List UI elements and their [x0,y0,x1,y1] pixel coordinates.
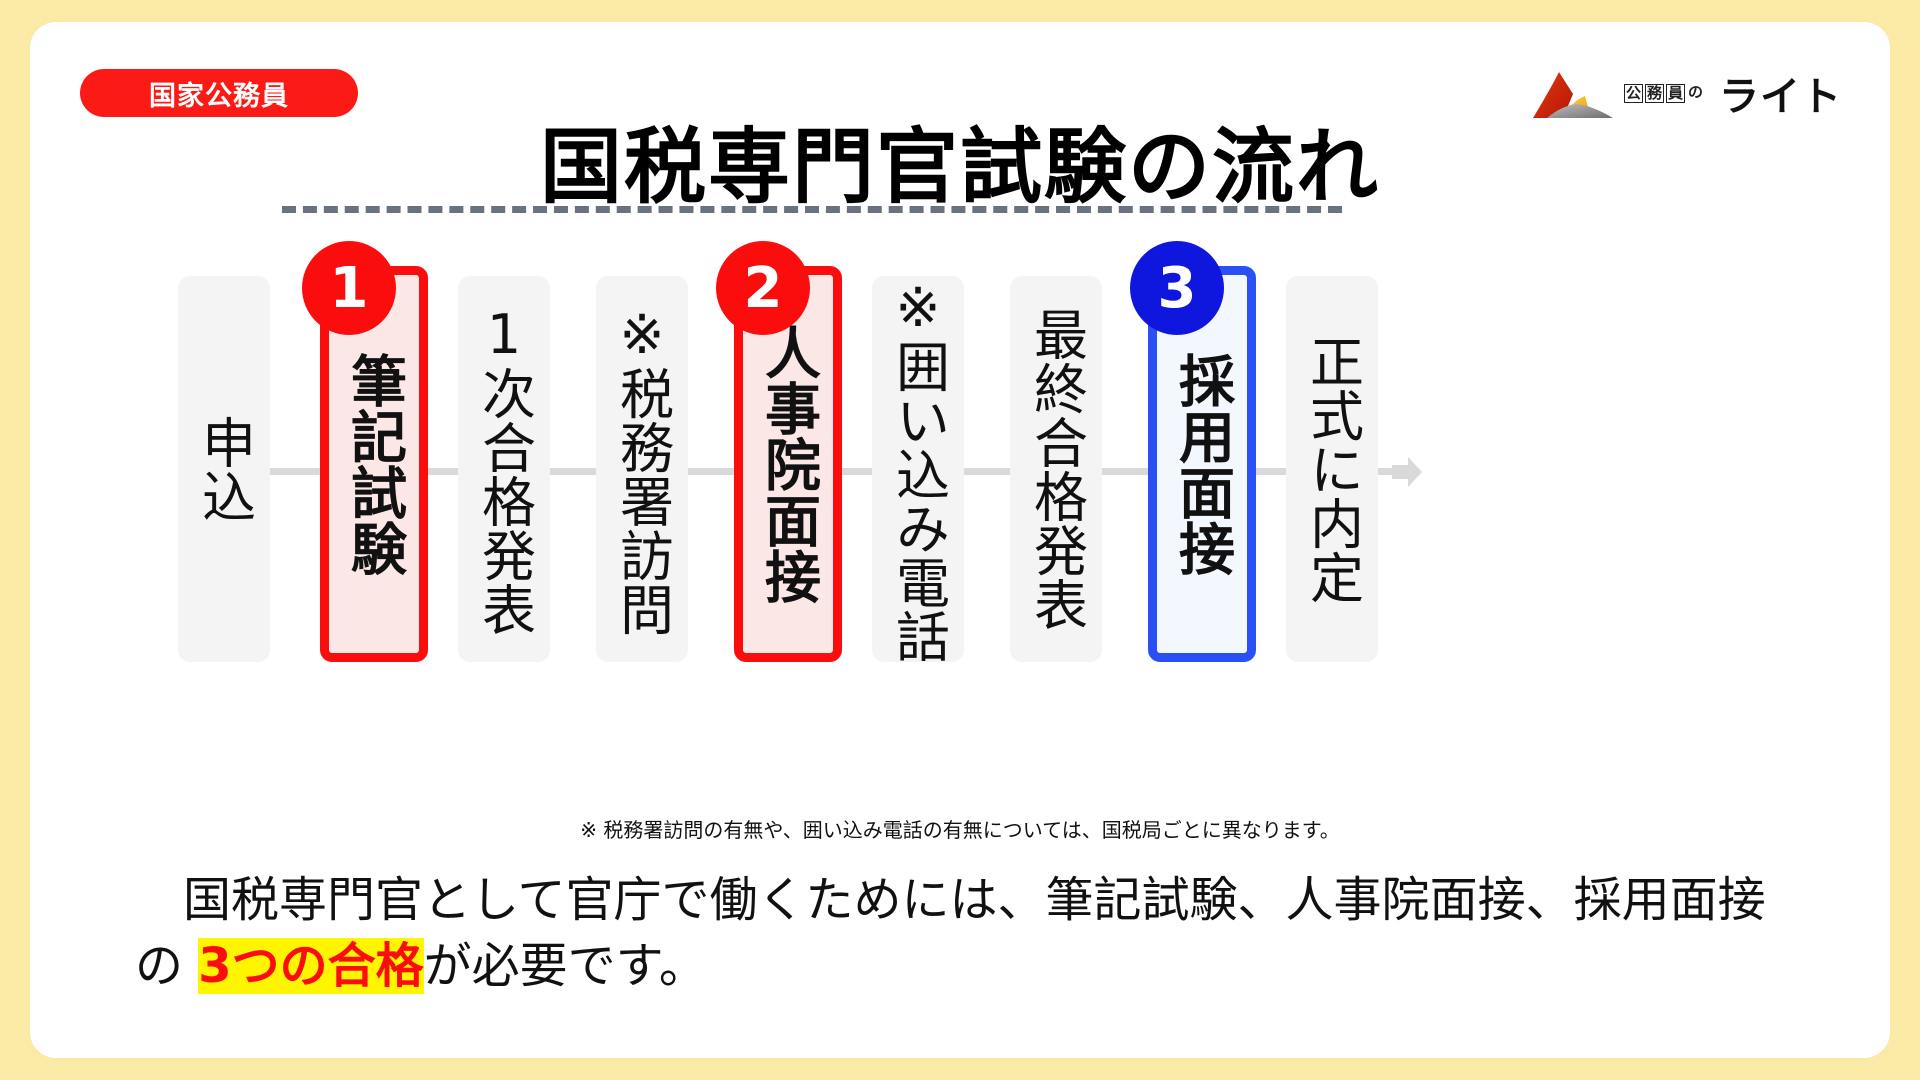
flow-step-label: 採用面接 [1173,352,1230,576]
step-number-3: 3 [1130,241,1224,335]
flow-step-囲い込み電話[interactable]: ※囲い込み電話 [872,276,964,662]
flow-step-label: 筆記試験 [345,352,402,576]
flow-step-label: 申込 [196,415,251,523]
flow-step-最終合格発表[interactable]: 最終合格発表 [1010,276,1102,662]
flow-step-申込[interactable]: 申込 [178,276,270,662]
flow-step-label: 1次合格発表 [476,303,531,636]
footnote-text: ※ 税務署訪問の有無や、囲い込み電話の有無については、国税局ごとに異なります。 [30,814,1890,843]
flow-step-label: ※囲い込み電話 [890,276,945,663]
flow-step-label: 人事院面接 [759,324,816,604]
flow-arrow-icon [1390,455,1424,489]
step-number-2: 2 [716,241,810,335]
step-number-1: 1 [302,241,396,335]
flow-step-1次合格発表[interactable]: 1次合格発表 [458,276,550,662]
flow-step-正式に内定[interactable]: 正式に内定 [1286,276,1378,662]
flow-step-税務署訪問[interactable]: ※税務署訪問 [596,276,688,662]
summary-highlight: 3つの合格 [198,938,423,994]
flow-step-label: 最終合格発表 [1028,307,1083,631]
slide-card: 国家公務員 [30,22,1890,1058]
flow-step-label: 正式に内定 [1304,334,1359,604]
flow-step-label: ※税務署訪問 [614,303,669,636]
summary-paragraph: 国税専門官として官庁で働くためには、筆記試験、人事院面接、採用面接の 3つの合格… [135,867,1795,999]
summary-part-2: が必要です。 [424,938,707,994]
